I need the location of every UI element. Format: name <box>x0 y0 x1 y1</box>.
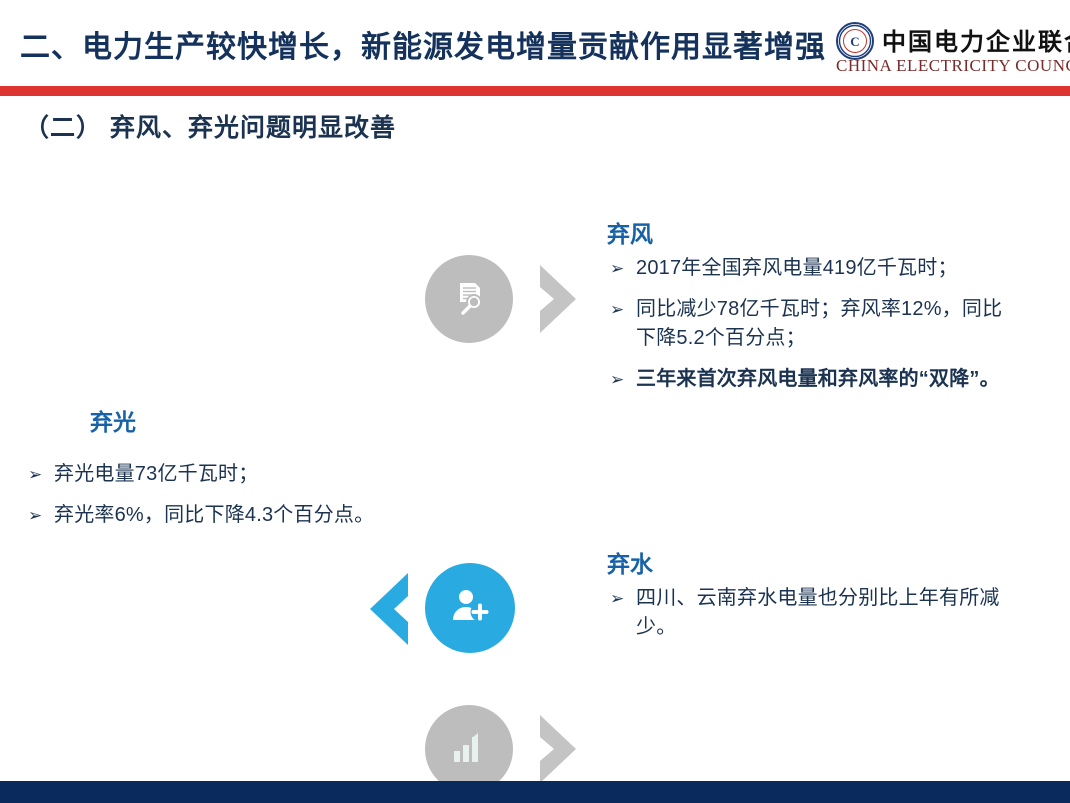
slide-header: 二、电力生产较快增长，新能源发电增量贡献作用显著增强 C 中国电力企业联合会 C… <box>0 0 1070 86</box>
chevron-right-icon <box>534 263 582 340</box>
header-red-rule <box>0 86 1070 96</box>
list-item: ➢ 三年来首次弃风电量和弃风率的“双降”。 <box>610 365 1010 394</box>
list-item-text: 弃光率6%，同比下降4.3个百分点。 <box>54 501 374 530</box>
solar-bullet-list: ➢ 弃光电量73亿千瓦时； ➢ 弃光率6%，同比下降4.3个百分点。 <box>28 460 448 542</box>
bullet-marker: ➢ <box>610 254 636 283</box>
water-bullet-list: ➢ 四川、云南弃水电量也分别比上年有所减少。 <box>610 584 1010 654</box>
wind-bullet-list: ➢ 2017年全国弃风电量419亿千瓦时； ➢ 同比减少78亿千瓦时；弃风率12… <box>610 254 1010 406</box>
wind-heading: 弃风 <box>607 215 653 249</box>
chevron-left-icon <box>362 570 414 653</box>
list-item: ➢ 弃光率6%，同比下降4.3个百分点。 <box>28 501 448 530</box>
page-title: 二、电力生产较快增长，新能源发电增量贡献作用显著增强 <box>20 22 826 66</box>
list-item-text: 2017年全国弃风电量419亿千瓦时； <box>636 254 958 283</box>
wind-icon-circle[interactable] <box>425 255 513 343</box>
bullet-marker: ➢ <box>28 460 54 489</box>
bullet-marker: ➢ <box>610 295 636 324</box>
chevron-right-icon <box>534 713 582 790</box>
cec-emblem-icon: C <box>836 22 874 60</box>
list-item: ➢ 同比减少78亿千瓦时；弃风率12%，同比下降5.2个百分点； <box>610 295 1010 353</box>
bar-chart-icon <box>452 731 486 768</box>
list-item-text: 三年来首次弃风电量和弃风率的“双降”。 <box>636 365 1000 394</box>
water-icon-circle-real[interactable] <box>425 705 513 793</box>
add-user-icon <box>448 584 492 633</box>
bullet-marker: ➢ <box>28 501 54 530</box>
cec-logo: C 中国电力企业联合会 CHINA ELECTRICITY COUNCIL <box>836 18 1062 80</box>
solar-icon-circle[interactable] <box>425 563 515 653</box>
diagram-stage: 弃风 ➢ 2017年全国弃风电量419亿千瓦时； ➢ 同比减少78亿千瓦时；弃风… <box>0 160 1070 760</box>
svg-text:C: C <box>850 34 859 49</box>
section-subtitle: （二） 弃风、弃光问题明显改善 <box>24 108 396 144</box>
bullet-marker: ➢ <box>610 584 636 613</box>
logo-chinese-name: 中国电力企业联合会 <box>882 22 1070 57</box>
water-heading: 弃水 <box>607 545 653 579</box>
list-item-text: 弃光电量73亿千瓦时； <box>54 460 258 489</box>
slide-footer-bar <box>0 781 1070 803</box>
list-item: ➢ 四川、云南弃水电量也分别比上年有所减少。 <box>610 584 1010 642</box>
bullet-marker: ➢ <box>610 365 636 394</box>
list-item: ➢ 弃光电量73亿千瓦时； <box>28 460 448 489</box>
logo-english-name: CHINA ELECTRICITY COUNCIL <box>836 56 1070 76</box>
list-item-text: 四川、云南弃水电量也分别比上年有所减少。 <box>636 584 1010 642</box>
list-item-text: 同比减少78亿千瓦时；弃风率12%，同比下降5.2个百分点； <box>636 295 1010 353</box>
document-search-icon <box>448 276 490 323</box>
list-item: ➢ 2017年全国弃风电量419亿千瓦时； <box>610 254 1010 283</box>
solar-heading: 弃光 <box>90 403 136 437</box>
